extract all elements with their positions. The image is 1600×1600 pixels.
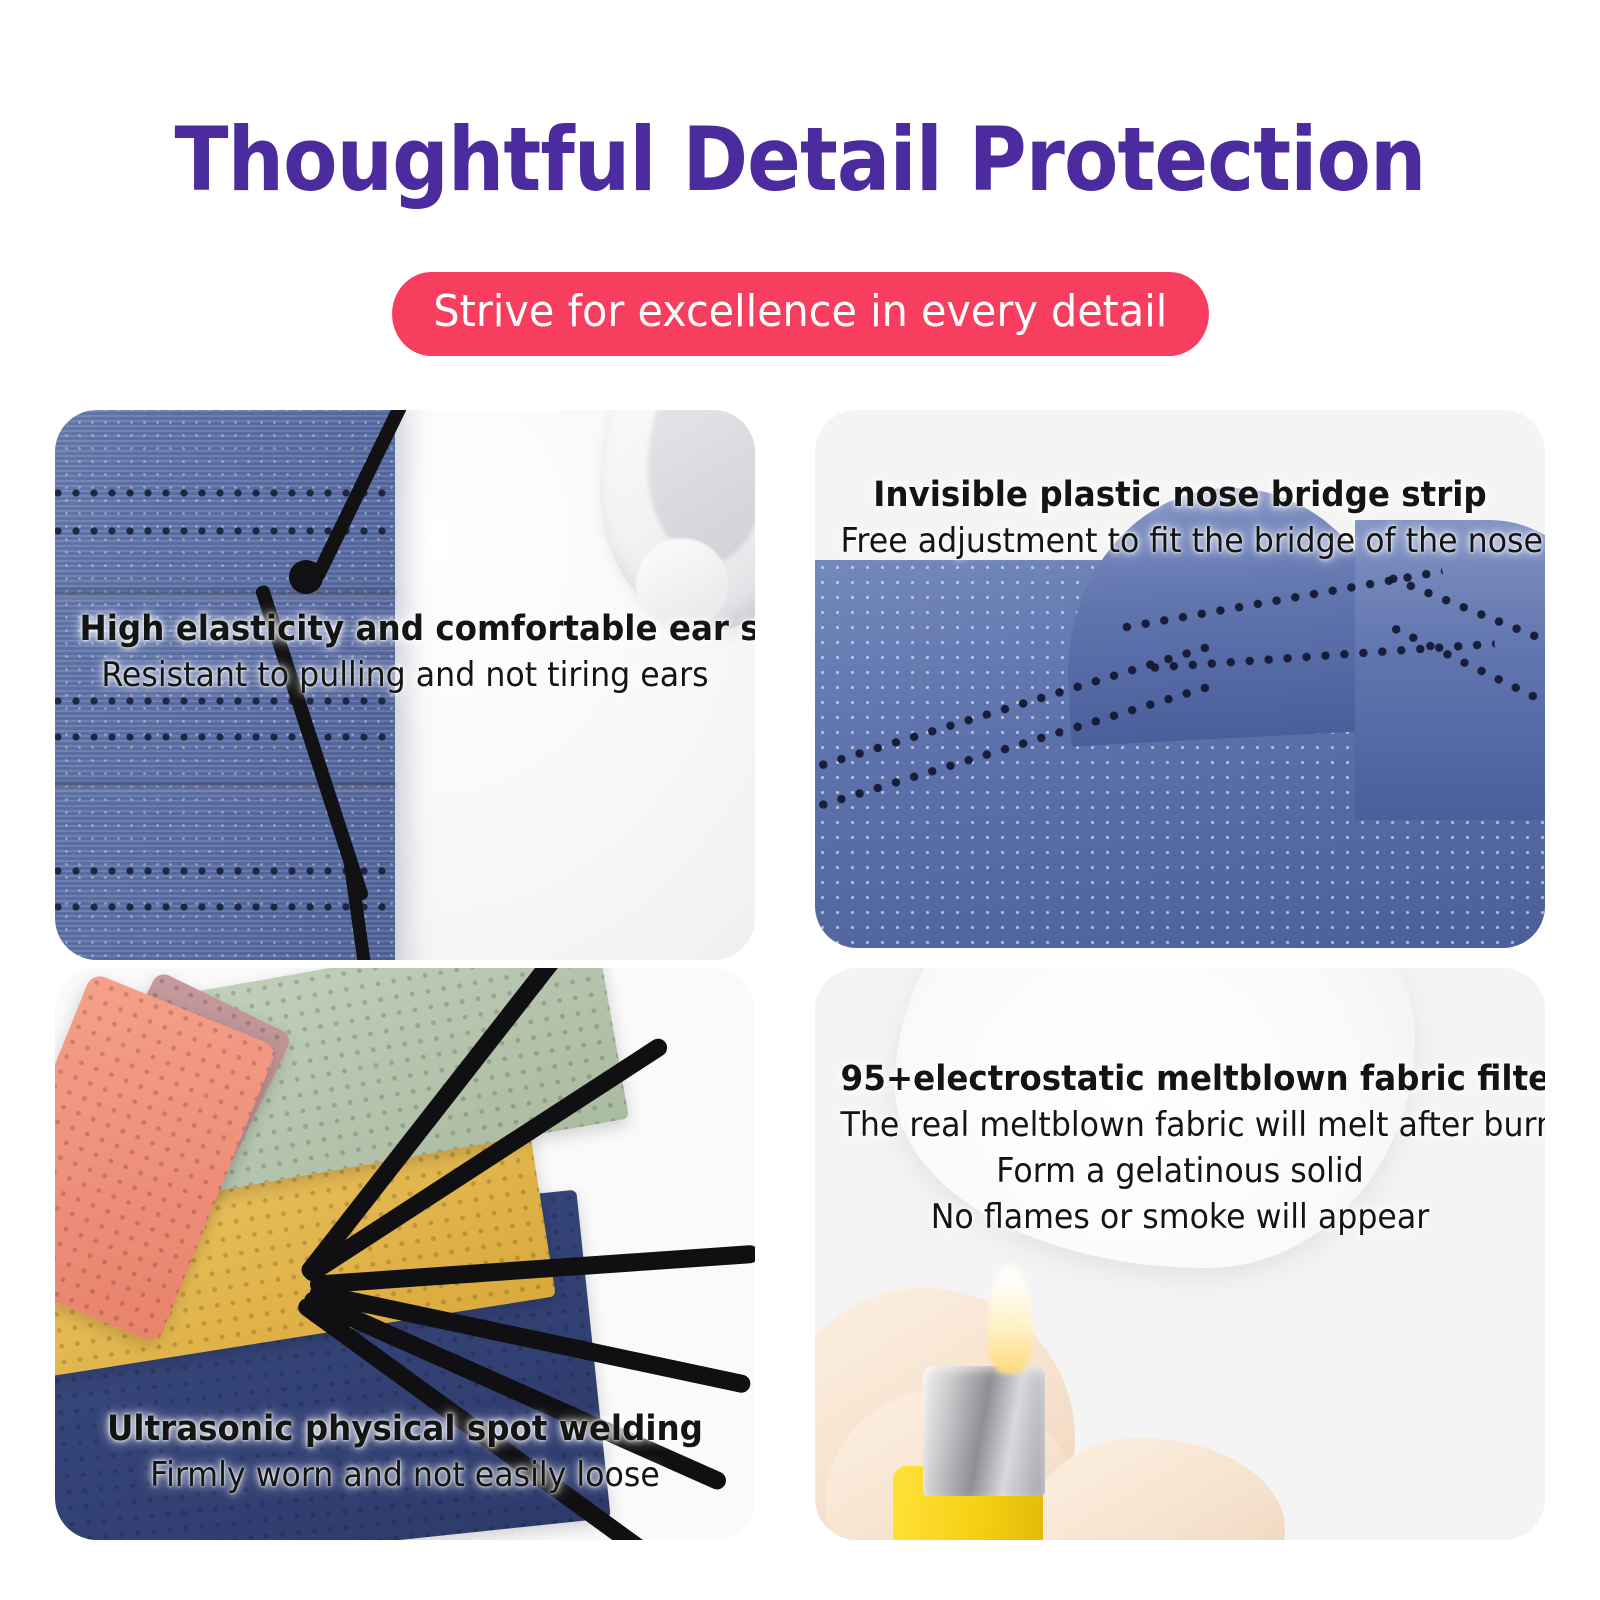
header: Thoughtful Detail Protection Strive for … [0, 0, 1600, 390]
feature-panel-nose-bridge: Invisible plastic nose bridge strip Free… [815, 410, 1545, 948]
ear-inner-shape [648, 410, 755, 562]
ear-shape [600, 410, 755, 630]
blue-mask [55, 410, 395, 960]
meltblown-illustration [815, 968, 1545, 1540]
feature-panel-spot-welding: Ultrasonic physical spot welding Firmly … [55, 968, 755, 1540]
mask-weld-row [55, 896, 395, 918]
ear-strap-knot [289, 560, 323, 594]
ear-lobe [636, 538, 728, 630]
status-badge: Strive for excellence in every detail [392, 272, 1209, 356]
mask-weld-row [55, 690, 395, 712]
mask-pleat [55, 590, 395, 600]
ear-strap-illustration [55, 410, 755, 960]
nose-bridge-illustration [815, 410, 1545, 948]
mask-weld-row [55, 726, 395, 748]
nose-bridge-slope [1355, 520, 1545, 820]
mask-pleat [55, 782, 395, 792]
feature-panel-ear-strap: High elasticity and comfortable ear stra… [55, 410, 755, 960]
subtitle-container: Strive for excellence in every detail [0, 272, 1600, 356]
lighter-chrome-top [923, 1366, 1045, 1496]
spot-welding-illustration [55, 968, 755, 1540]
mask-weld-row [55, 482, 395, 504]
page-title: Thoughtful Detail Protection [80, 110, 1520, 210]
feature-panel-meltblown: 95+electrostatic meltblown fabric filter… [815, 968, 1545, 1540]
